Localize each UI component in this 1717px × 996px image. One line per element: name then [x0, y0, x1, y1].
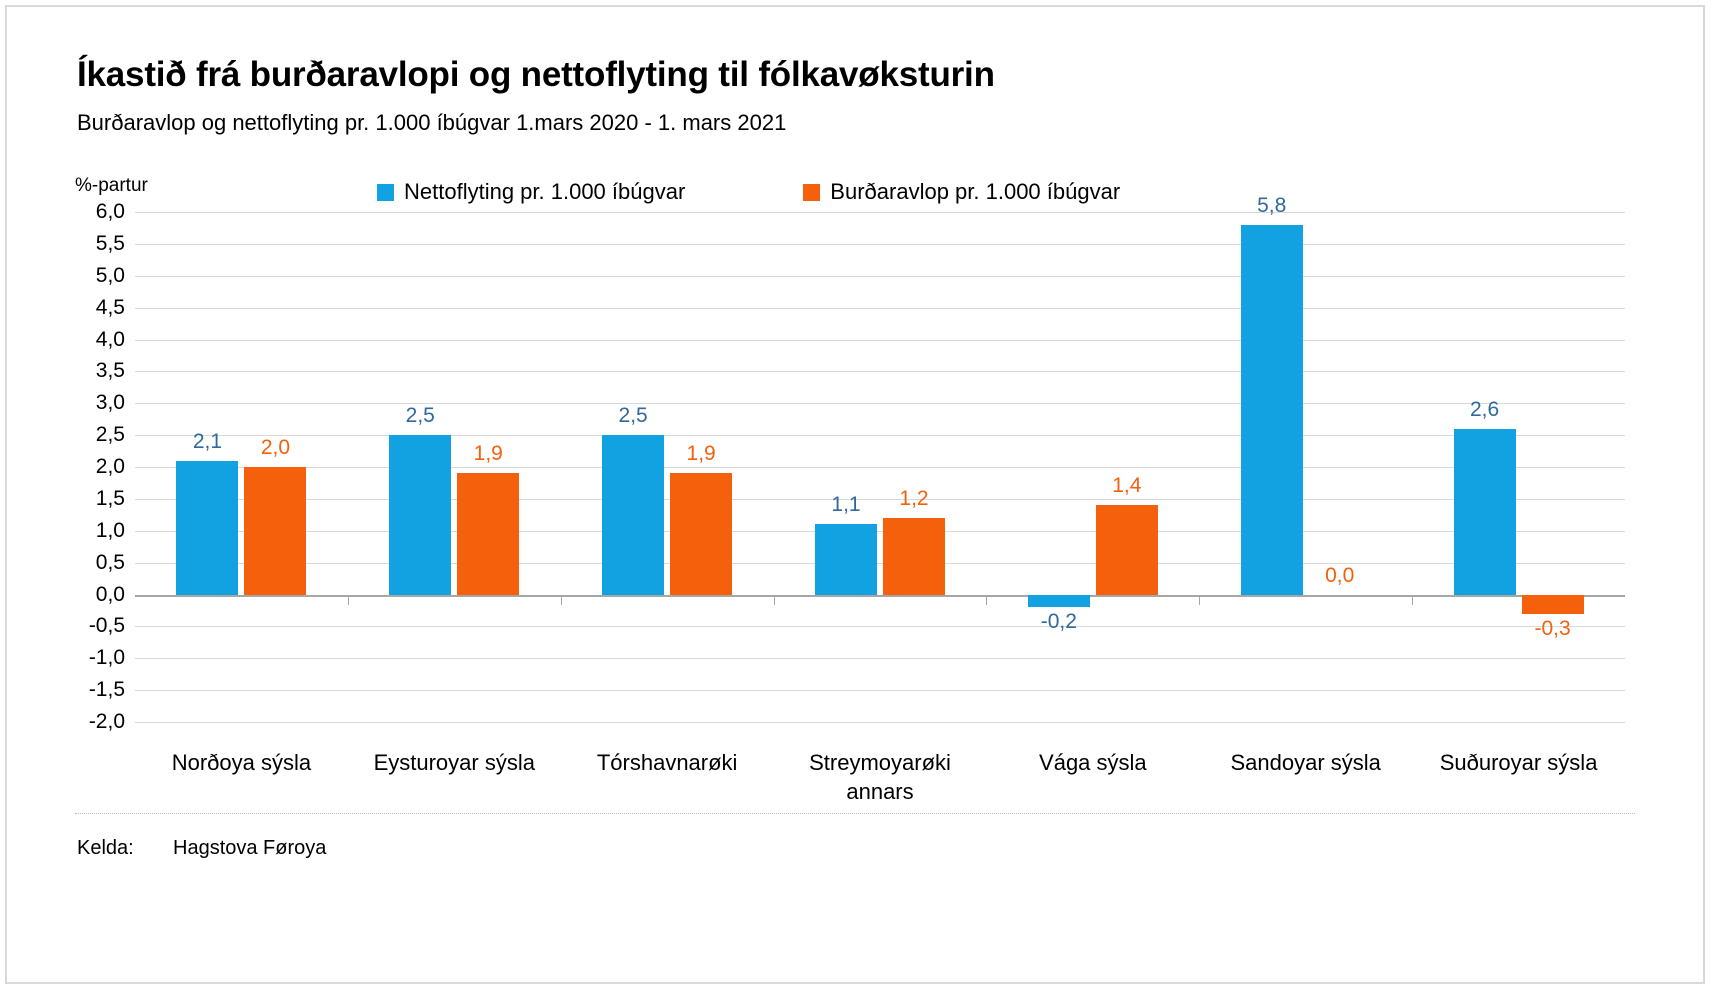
y-axis-tick-label: -0,5: [55, 614, 125, 638]
gridline: [135, 626, 1625, 627]
footer-divider: [75, 813, 1635, 815]
gridline: [135, 244, 1625, 245]
bar-value-label: 5,8: [1217, 194, 1327, 218]
x-axis-category-line: Suðuroyar sýsla: [1409, 748, 1629, 777]
y-axis-tick-label: 5,0: [55, 264, 125, 288]
bar-burdaravlop[interactable]: [1096, 505, 1158, 594]
gridline: [135, 722, 1625, 723]
bar-nettoflyting[interactable]: [176, 461, 238, 595]
legend-item-nettoflyting[interactable]: Nettoflyting pr. 1.000 íbúgvar: [377, 179, 685, 205]
y-axis-tick-label: 5,5: [55, 232, 125, 256]
x-axis-tick: [1199, 595, 1200, 605]
x-axis-tick: [1412, 595, 1413, 605]
chart-legend: Nettoflyting pr. 1.000 íbúgvar Burðaravl…: [377, 179, 1120, 205]
x-axis-tick: [774, 595, 775, 605]
bar-nettoflyting[interactable]: [1028, 595, 1090, 608]
x-axis-tick: [348, 595, 349, 605]
y-axis-tick-label: 1,0: [55, 519, 125, 543]
y-axis-tick-label: -1,5: [55, 678, 125, 702]
legend-label-burdaravlop: Burðaravlop pr. 1.000 íbúgvar: [830, 179, 1120, 205]
plot-area: 2,12,02,51,92,51,91,11,2-0,21,45,80,02,6…: [135, 212, 1625, 722]
bar-burdaravlop[interactable]: [457, 473, 519, 594]
x-axis-category-label: Suðuroyar sýsla: [1409, 748, 1629, 777]
gridline: [135, 467, 1625, 468]
y-axis-tick-label: 3,0: [55, 391, 125, 415]
bar-nettoflyting[interactable]: [815, 524, 877, 594]
bar-burdaravlop[interactable]: [883, 518, 945, 595]
x-axis-category-label: Sandoyar sýsla: [1196, 748, 1416, 777]
bar-value-label: 2,0: [220, 436, 330, 460]
bar-value-label: 2,5: [365, 404, 475, 428]
x-axis-category-line: Vága sýsla: [983, 748, 1203, 777]
x-axis-category-label: Streymoyarøkiannars: [770, 748, 990, 806]
legend-label-nettoflyting: Nettoflyting pr. 1.000 íbúgvar: [404, 179, 685, 205]
gridline: [135, 308, 1625, 309]
y-axis-tick-label: 6,0: [55, 200, 125, 224]
x-axis-category-label: Tórshavnarøki: [557, 748, 777, 777]
y-axis-unit-label: %-partur: [75, 175, 148, 197]
bar-value-label: -0,2: [1004, 610, 1114, 634]
source-value: Hagstova Føroya: [173, 837, 326, 860]
gridline: [135, 435, 1625, 436]
bar-burdaravlop[interactable]: [244, 467, 306, 595]
y-axis-tick-label: 2,5: [55, 423, 125, 447]
bar-burdaravlop[interactable]: [670, 473, 732, 594]
bar-nettoflyting[interactable]: [1241, 225, 1303, 595]
y-axis-tick-label: 0,0: [55, 583, 125, 607]
bar-value-label: 2,5: [578, 404, 688, 428]
bar-value-label: -0,3: [1498, 617, 1608, 641]
bar-value-label: 0,0: [1285, 564, 1395, 588]
gridline: [135, 276, 1625, 277]
x-axis-tick: [561, 595, 562, 605]
x-axis-category-line: Eysturoyar sýsla: [344, 748, 564, 777]
gridline: [135, 563, 1625, 564]
bar-value-label: 1,4: [1072, 474, 1182, 498]
y-axis-tick-label: 2,0: [55, 455, 125, 479]
x-axis-category-line: Norðoya sýsla: [131, 748, 351, 777]
gridline: [135, 531, 1625, 532]
x-axis-category-line: Sandoyar sýsla: [1196, 748, 1416, 777]
x-axis-category-line: annars: [770, 777, 990, 806]
y-axis-tick-label: 4,5: [55, 296, 125, 320]
bar-value-label: 1,9: [433, 442, 543, 466]
bar-value-label: 1,9: [646, 442, 756, 466]
source-label: Kelda:: [77, 837, 134, 860]
gridline: [135, 212, 1625, 213]
x-axis-tick: [986, 595, 987, 605]
x-axis-category-label: Vága sýsla: [983, 748, 1203, 777]
gridline: [135, 340, 1625, 341]
y-axis-tick-label: 0,5: [55, 551, 125, 575]
zero-axis-line: [135, 595, 1625, 597]
page-title: Íkastið frá burðaravlopi og nettoflyting…: [77, 55, 995, 95]
bar-value-label: 1,2: [859, 487, 969, 511]
gridline: [135, 403, 1625, 404]
legend-swatch-blue: [377, 184, 394, 201]
gridline: [135, 371, 1625, 372]
gridline: [135, 658, 1625, 659]
gridline: [135, 690, 1625, 691]
y-axis-tick-label: 4,0: [55, 328, 125, 352]
x-axis-category-line: Tórshavnarøki: [557, 748, 777, 777]
x-axis-category-label: Eysturoyar sýsla: [344, 748, 564, 777]
page-subtitle: Burðaravlop og nettoflyting pr. 1.000 íb…: [77, 110, 786, 136]
bar-nettoflyting[interactable]: [1454, 429, 1516, 595]
legend-item-burdaravlop[interactable]: Burðaravlop pr. 1.000 íbúgvar: [803, 179, 1120, 205]
chart-card: Íkastið frá burðaravlopi og nettoflyting…: [5, 5, 1705, 984]
y-axis-tick-label: 1,5: [55, 487, 125, 511]
legend-swatch-orange: [803, 184, 820, 201]
y-axis-tick-label: -1,0: [55, 646, 125, 670]
bar-value-label: 2,6: [1430, 398, 1540, 422]
y-axis-tick-label: -2,0: [55, 710, 125, 734]
x-axis-category-label: Norðoya sýsla: [131, 748, 351, 777]
bar-burdaravlop[interactable]: [1522, 595, 1584, 614]
y-axis-tick-label: 3,5: [55, 359, 125, 383]
x-axis-category-line: Streymoyarøki: [770, 748, 990, 777]
